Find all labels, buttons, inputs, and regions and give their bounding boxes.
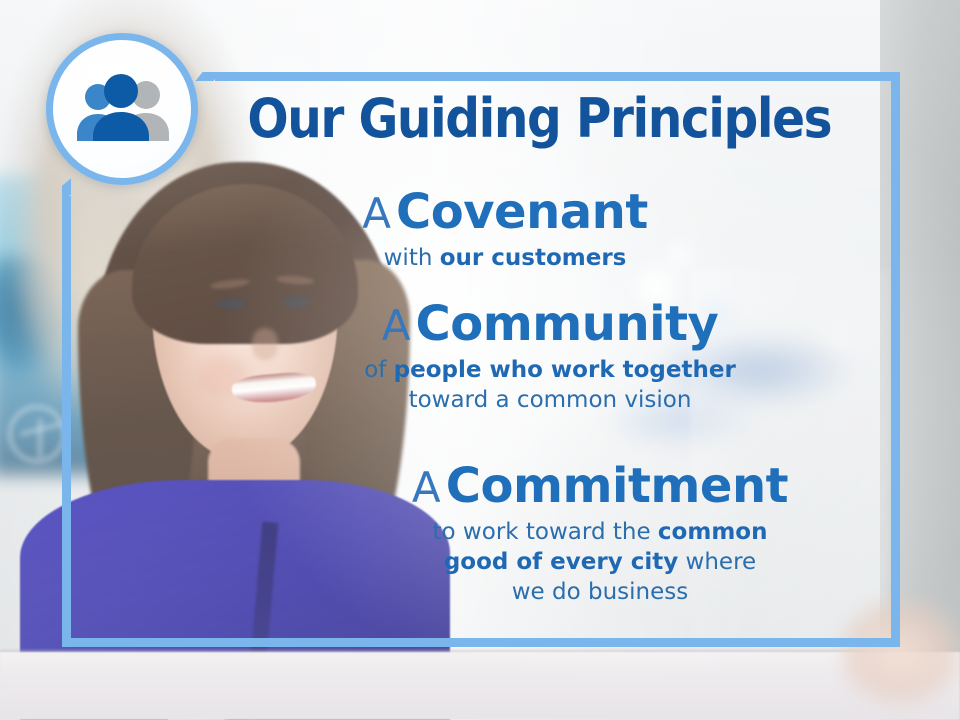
principle-subtitle: with our customers — [225, 244, 785, 274]
principle-sub-bold: common — [658, 519, 768, 545]
principle-commitment: A Commitment to work toward the common g… — [320, 462, 880, 608]
principle-word: Covenant — [396, 184, 648, 240]
principle-sub-bold-2: good of every city — [444, 549, 678, 575]
principle-sub-bold: people who work together — [394, 357, 736, 383]
principle-community: A Community of people who work together … — [270, 300, 830, 416]
frame-top-border — [215, 72, 900, 81]
eye-left — [216, 298, 246, 310]
principle-word: Community — [416, 296, 719, 352]
frame-right-border — [891, 72, 900, 647]
frame-left-border — [62, 196, 71, 647]
principle-article: A — [412, 463, 441, 512]
principle-sub-plain-2: where — [678, 549, 756, 575]
principle-subtitle: to work toward the common good of every … — [320, 518, 880, 608]
principle-sub-line3: we do business — [512, 579, 689, 605]
people-group-icon — [70, 73, 174, 145]
principle-sub-line2: toward a common vision — [409, 387, 692, 413]
guiding-principles-graphic: FLOW AUTOMOTIVE FLOW — [0, 0, 960, 720]
principle-sub-plain: with — [384, 245, 440, 271]
principle-sub-plain: to work toward the — [433, 519, 658, 545]
frame-bottom-border — [62, 638, 900, 647]
page-title: Our Guiding Principles — [247, 92, 830, 146]
principle-covenant: A Covenant with our customers — [225, 188, 785, 274]
second-person-hand — [840, 590, 960, 720]
people-badge — [46, 33, 198, 185]
principle-subtitle: of people who work together toward a com… — [270, 356, 830, 416]
principle-title: A Community — [270, 300, 830, 350]
principle-sub-bold: our customers — [440, 245, 627, 271]
principle-sub-plain: of — [364, 357, 393, 383]
principle-article: A — [382, 301, 411, 350]
principle-word: Commitment — [446, 458, 788, 514]
principle-title: A Commitment — [320, 462, 880, 512]
principle-title: A Covenant — [225, 188, 785, 238]
white-desk — [0, 652, 960, 720]
principle-article: A — [362, 189, 391, 238]
